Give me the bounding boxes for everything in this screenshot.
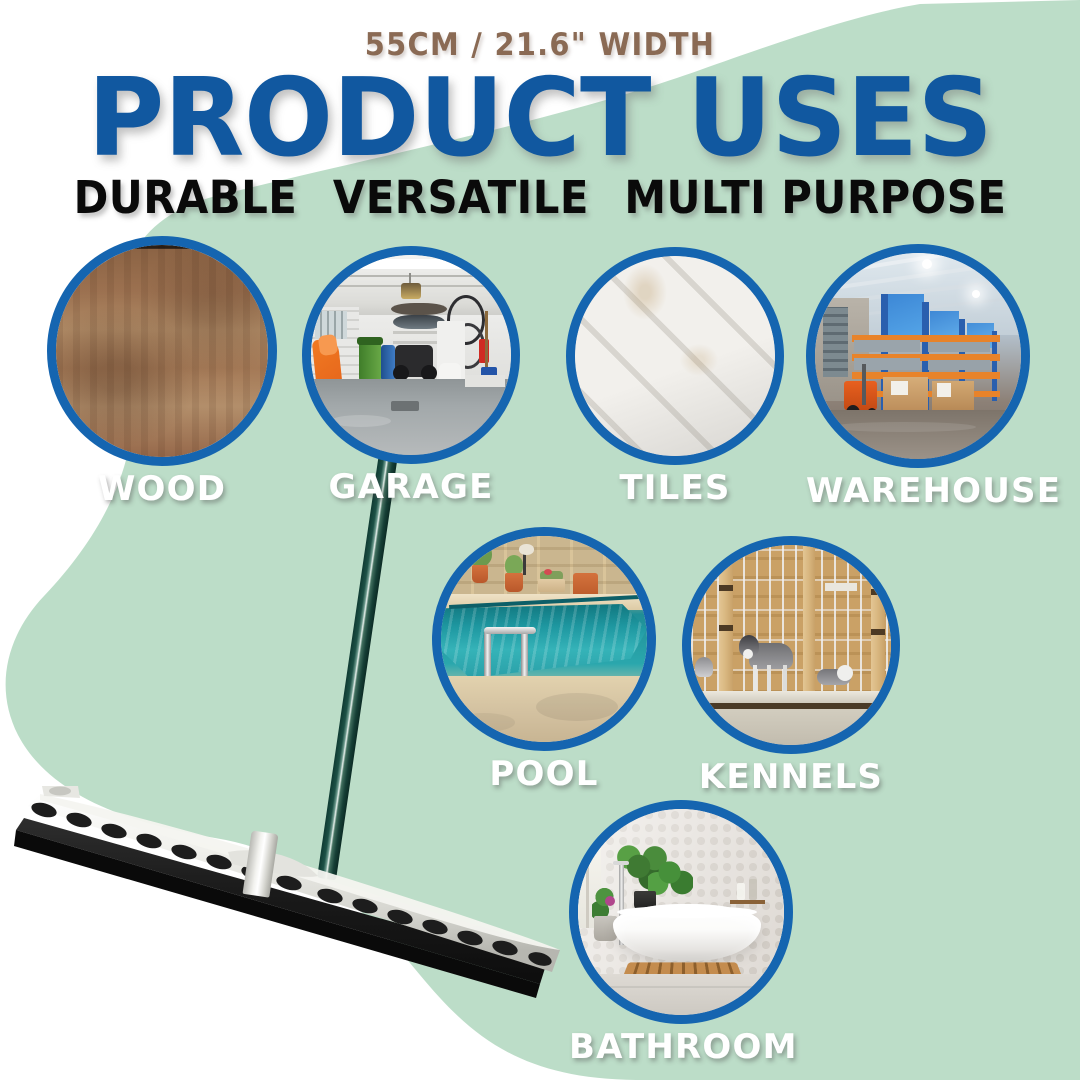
use-item-wood[interactable]: WOOD <box>47 236 277 506</box>
page-title: PRODUCT USES <box>16 67 1064 171</box>
use-label-kennels: KENNELS <box>682 760 900 794</box>
use-circle-wood <box>47 236 277 466</box>
tagline-word-multi-purpose: MULTI PURPOSE <box>624 171 1006 224</box>
head-hole-row <box>30 800 554 968</box>
floor-squeegee <box>0 760 620 1080</box>
use-circle-garage <box>302 246 520 464</box>
use-item-tiles[interactable]: TILES <box>566 247 784 505</box>
header: 55CM / 21.6" WIDTH PRODUCT USES DURABLE … <box>0 0 1080 220</box>
use-item-bathroom[interactable]: BATHROOM <box>569 800 793 1064</box>
tagline: DURABLE VERSATILE MULTI PURPOSE <box>38 175 1042 220</box>
swimming-pool-deck-photo <box>441 536 647 742</box>
use-label-bathroom: BATHROOM <box>569 1030 793 1064</box>
hanging-hole <box>49 787 71 796</box>
herringbone-tile-floor-photo <box>575 256 775 456</box>
tagline-word-durable: DURABLE <box>74 171 298 224</box>
use-label-wood: WOOD <box>47 472 277 506</box>
use-item-kennels[interactable]: KENNELS <box>682 536 900 794</box>
use-circle-warehouse <box>806 244 1030 468</box>
use-circle-bathroom <box>569 800 793 1024</box>
use-item-pool[interactable]: POOL <box>432 527 656 791</box>
wood-plank-floor-photo <box>56 245 268 457</box>
use-circle-kennels <box>682 536 900 754</box>
use-label-tiles: TILES <box>566 471 784 505</box>
use-circle-tiles <box>566 247 784 465</box>
warehouse-racking-forklift-photo <box>815 253 1021 459</box>
use-item-warehouse[interactable]: WAREHOUSE <box>806 244 1030 508</box>
infographic-canvas: 55CM / 21.6" WIDTH PRODUCT USES DURABLE … <box>0 0 1080 1080</box>
use-label-pool: POOL <box>432 757 656 791</box>
size-kicker: 55CM / 21.6" WIDTH <box>38 0 1042 61</box>
use-label-garage: GARAGE <box>302 470 520 504</box>
garage-interior-photo <box>311 255 511 455</box>
bathroom-bathtub-plants-photo <box>578 809 784 1015</box>
use-label-warehouse: WAREHOUSE <box>806 474 1030 508</box>
use-circle-pool <box>432 527 656 751</box>
dog-kennels-husky-photo <box>691 545 891 745</box>
use-item-garage[interactable]: GARAGE <box>302 246 520 504</box>
black-rubber-blade <box>16 818 546 984</box>
tagline-word-versatile: VERSATILE <box>333 171 589 224</box>
